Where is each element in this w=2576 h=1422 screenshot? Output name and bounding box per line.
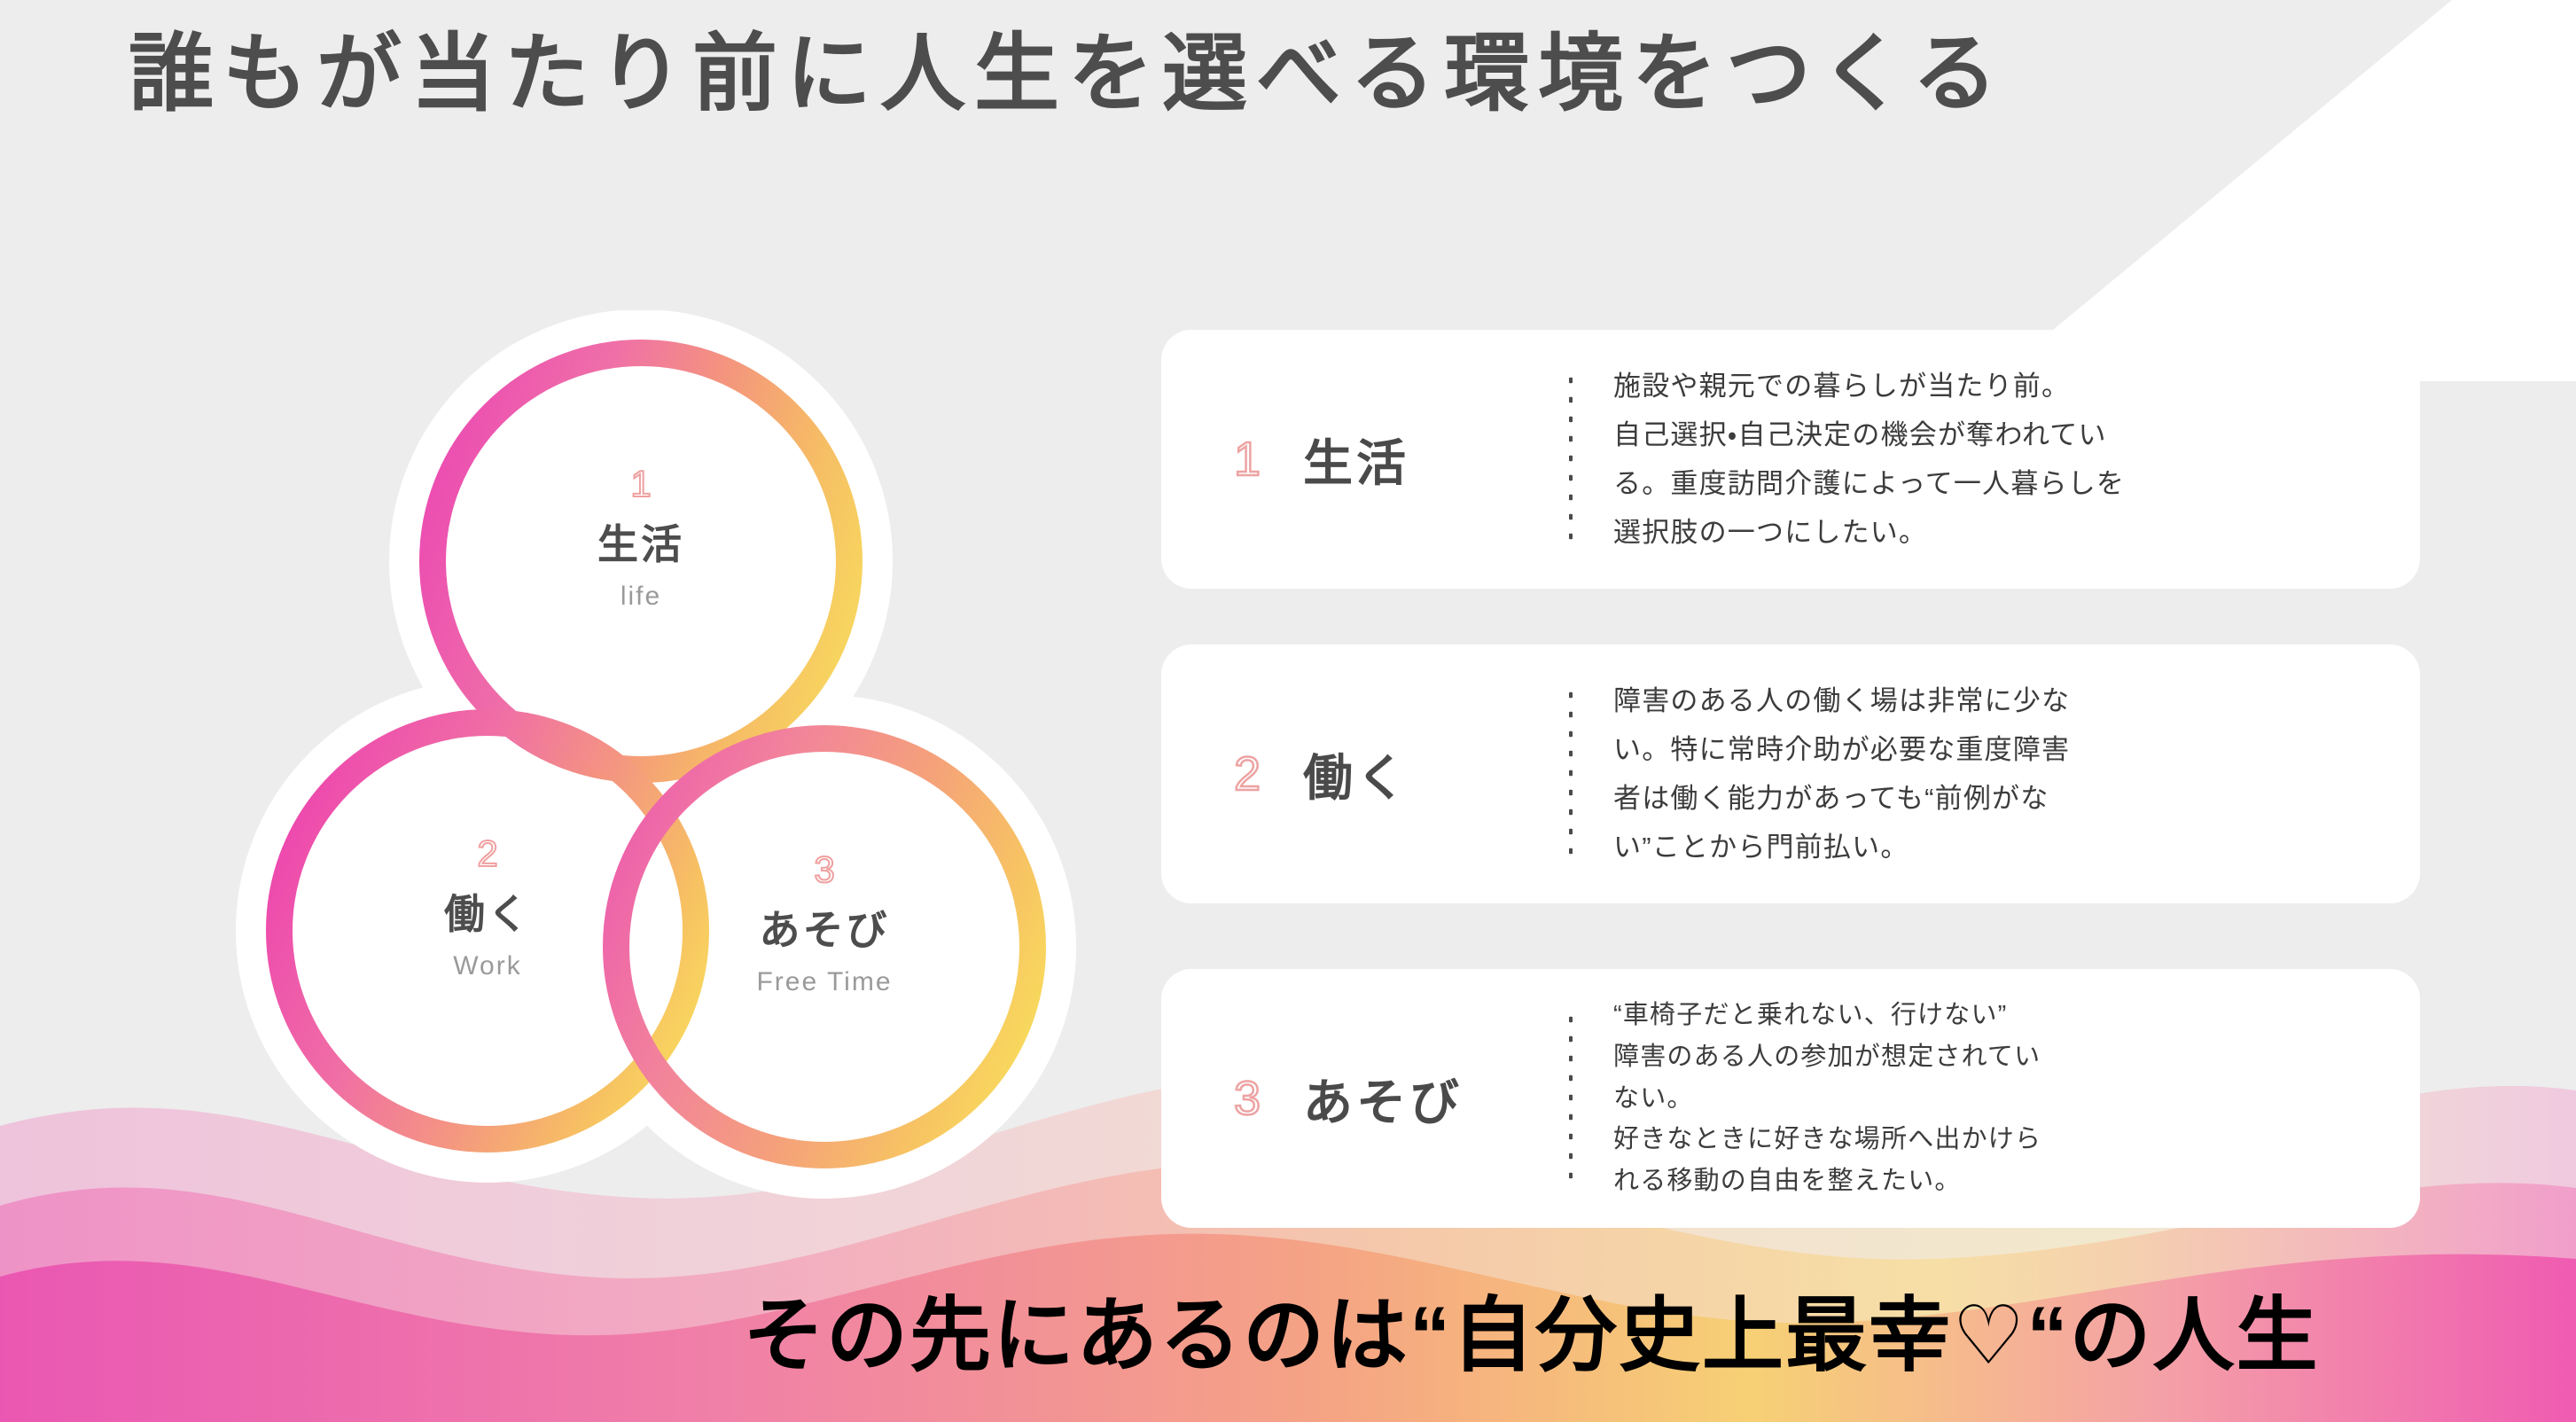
card-body-line: ない。 — [1613, 1078, 2367, 1120]
card-body-line: 施設や親元での暮らしが当たり前。 — [1613, 362, 2367, 410]
card-heading: 3 あそび — [1161, 1063, 1569, 1135]
card-body: 障害のある人の働く場は非常に少な い。特に常時介助が必要な重度障害 者は働く能力… — [1573, 676, 2420, 872]
card-title: 生活 — [1303, 424, 1409, 496]
card-body-line: れる移動の自由を整えたい。 — [1613, 1160, 2367, 1202]
card-number: 1 — [1234, 435, 1261, 483]
card-body-line: 自己選択・自己決定の機会が奪われてい — [1613, 410, 2367, 459]
venn-diagram: 1 生活 life 2 働く Work 3 あそび Free Time — [133, 310, 1152, 1241]
card-heading: 1 生活 — [1161, 424, 1569, 496]
card-title: 働く — [1303, 738, 1409, 810]
card-body-line: 障害のある人の参加が想定されてい — [1613, 1036, 2367, 1078]
corner-wedge-decoration — [1955, 0, 2576, 381]
info-card-freetime[interactable]: 3 あそび “車椅子だと乗れない、行けない” 障害のある人の参加が想定されてい … — [1161, 969, 2420, 1228]
info-card-life[interactable]: 1 生活 施設や親元での暮らしが当たり前。 自己選択・自己決定の機会が奪われてい… — [1161, 330, 2420, 589]
card-body-line: 者は働く能力があっても“前例がな — [1613, 774, 2367, 823]
info-card-work[interactable]: 2 働く 障害のある人の働く場は非常に少な い。特に常時介助が必要な重度障害 者… — [1161, 645, 2420, 903]
card-body-line: る。重度訪問介護によって一人暮らしを — [1613, 459, 2367, 508]
card-body: 施設や親元での暮らしが当たり前。 自己選択・自己決定の機会が奪われてい る。重度… — [1573, 362, 2420, 558]
card-number: 2 — [1234, 750, 1261, 798]
card-number: 3 — [1234, 1074, 1261, 1122]
card-body: “車椅子だと乗れない、行けない” 障害のある人の参加が想定されてい ない。 好き… — [1573, 995, 2420, 1203]
card-body-line: 選択肢の一つにしたい。 — [1613, 508, 2367, 557]
card-body-line: い”ことから門前払い。 — [1613, 823, 2367, 871]
bottom-tagline: その先にあるのは“自分史上最幸♡“の人生 — [743, 1285, 2319, 1387]
card-body-line: い。特に常時介助が必要な重度障害 — [1613, 725, 2367, 774]
card-body-line: “車椅子だと乗れない、行けない” — [1613, 995, 2367, 1036]
venn-rings — [133, 310, 1152, 1241]
slide-root: 誰もが当たり前に人生を選べる環境をつくる — [0, 0, 2576, 1422]
card-body-line: 好きなときに好きな場所へ出かけら — [1613, 1119, 2367, 1160]
card-title: あそび — [1303, 1063, 1463, 1135]
page-title: 誰もが当たり前に人生を選べる環境をつくる — [129, 21, 2006, 128]
card-heading: 2 働く — [1161, 738, 1569, 810]
card-body-line: 障害のある人の働く場は非常に少な — [1613, 676, 2367, 725]
